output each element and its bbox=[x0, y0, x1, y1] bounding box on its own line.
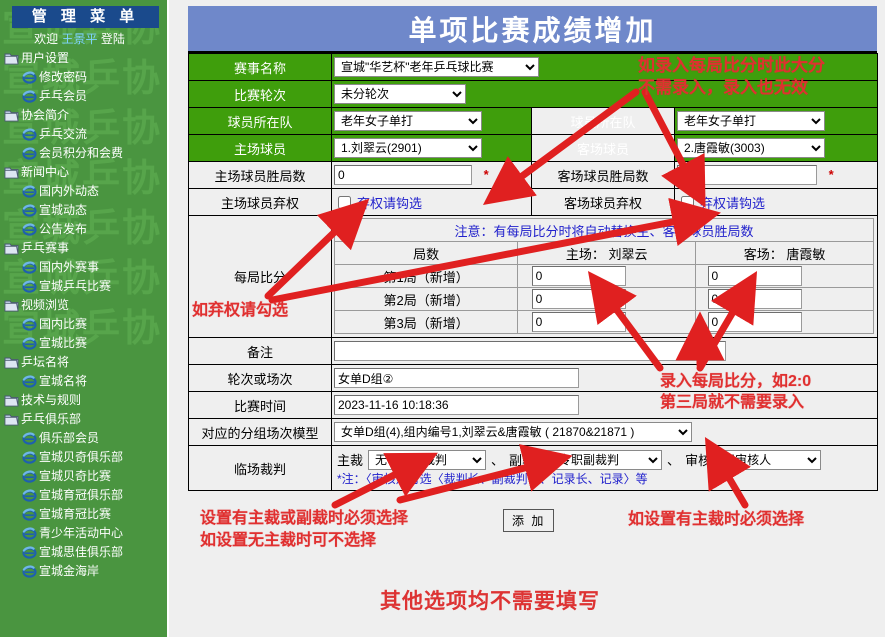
ie-icon bbox=[22, 489, 37, 503]
sidebar-item-10[interactable]: 乒乓赛事 bbox=[0, 239, 167, 258]
ie-icon bbox=[22, 318, 37, 332]
games-row: 第1局（新增） bbox=[335, 265, 874, 288]
row-remark: 备注 bbox=[189, 338, 878, 365]
cell-time bbox=[332, 392, 878, 419]
sidebar-item-label: 公告发布 bbox=[39, 220, 87, 239]
games-header-2: 客场： 唐霞敏 bbox=[696, 242, 874, 265]
folder-icon bbox=[4, 242, 19, 256]
folder-icon bbox=[4, 299, 19, 313]
referee-note: *注：〈审核〉可选〈裁判长、副裁判长、记录长、记录〉等 bbox=[334, 470, 875, 487]
sidebar: 宣城乒协 宣城乒协 宣城乒协 宣城乒协 宣城乒协 宣城乒协 宣城乒协 管 理 菜… bbox=[0, 0, 169, 637]
row-forfeit: 主场球员弃权 弃权请钩选 客场球员弃权 弃权请钩选 bbox=[189, 189, 878, 216]
row-session: 轮次或场次 bbox=[189, 365, 878, 392]
event-name-select[interactable]: 宣城"华艺杯"老年乒乓球比赛 bbox=[334, 57, 539, 77]
cell-referee: 主裁 无专职主裁判 、 副裁 无专职副裁判 、 审核 无审核人 bbox=[332, 446, 878, 491]
label-round: 比赛轮次 bbox=[189, 81, 332, 108]
sidebar-item-label: 宣城金海岸 bbox=[39, 562, 99, 581]
away-forfeit-text: 弃权请钩选 bbox=[700, 193, 765, 212]
sidebar-item-label: 协会简介 bbox=[21, 106, 69, 125]
sidebar-item-1[interactable]: 修改密码 bbox=[0, 68, 167, 87]
ie-icon bbox=[22, 185, 37, 199]
sidebar-item-label: 宣城贝奇俱乐部 bbox=[39, 448, 123, 467]
ie-icon bbox=[22, 508, 37, 522]
home-player-select[interactable]: 1.刘翠云(2901) bbox=[334, 138, 482, 158]
row-teams: 球员所在队 老年女子单打 球员所在队 老年女子单打 bbox=[189, 108, 878, 135]
label-time: 比赛时间 bbox=[189, 392, 332, 419]
sidebar-item-label: 会员积分和会费 bbox=[39, 144, 123, 163]
referee-main-label: 主裁 bbox=[337, 450, 363, 469]
label-away-player: 客场球员 bbox=[532, 135, 675, 162]
label-home-player: 主场球员 bbox=[189, 135, 332, 162]
sidebar-item-label: 国内比赛 bbox=[39, 315, 87, 334]
cell-home-player: 1.刘翠云(2901) bbox=[332, 135, 532, 162]
games-row: 第2局（新增） bbox=[335, 288, 874, 311]
sidebar-item-5[interactable]: 会员积分和会费 bbox=[0, 144, 167, 163]
folder-icon bbox=[4, 109, 19, 123]
game-home-cell-1 bbox=[518, 288, 696, 311]
label-away-forfeit: 客场球员弃权 bbox=[532, 189, 675, 216]
match-time-input[interactable] bbox=[334, 395, 579, 415]
cell-remark bbox=[332, 338, 878, 365]
sidebar-item-11[interactable]: 国内外赛事 bbox=[0, 258, 167, 277]
sidebar-item-14[interactable]: 国内比赛 bbox=[0, 315, 167, 334]
away-forfeit-checkbox[interactable] bbox=[681, 196, 694, 209]
ie-icon bbox=[22, 280, 37, 294]
ie-icon bbox=[22, 90, 37, 104]
label-event-name: 赛事名称 bbox=[189, 54, 332, 81]
sidebar-item-20[interactable]: 俱乐部会员 bbox=[0, 429, 167, 448]
home-forfeit-checkbox[interactable] bbox=[338, 196, 351, 209]
games-header-1: 主场： 刘翠云 bbox=[518, 242, 696, 265]
away-wins-required-star: * bbox=[829, 167, 834, 182]
referee-sep-1: 、 bbox=[491, 450, 504, 469]
folder-icon bbox=[4, 394, 19, 408]
sidebar-menu-list: 用户设置修改密码乒乓会员协会简介乒乓交流会员积分和会费新闻中心国内外动态宣城动态… bbox=[0, 49, 167, 581]
sidebar-item-25[interactable]: 青少年活动中心 bbox=[0, 524, 167, 543]
game-home-input-1[interactable] bbox=[532, 289, 626, 309]
referee-controls: 主裁 无专职主裁判 、 副裁 无专职副裁判 、 审核 无审核人 bbox=[334, 450, 875, 470]
sidebar-item-3[interactable]: 协会简介 bbox=[0, 106, 167, 125]
game-name-0: 第1局（新增） bbox=[335, 265, 518, 288]
score-form-table: 赛事名称 宣城"华艺杯"老年乒乓球比赛 比赛轮次 未分轮次 球员所在队 bbox=[188, 53, 878, 491]
row-players: 主场球员 1.刘翠云(2901) 客场球员 2.唐霞敏(3003) bbox=[189, 135, 878, 162]
label-referee: 临场裁判 bbox=[189, 446, 332, 491]
away-forfeit-checkbox-wrap[interactable]: 弃权请钩选 bbox=[677, 193, 875, 212]
sidebar-item-2[interactable]: 乒乓会员 bbox=[0, 87, 167, 106]
ie-icon bbox=[22, 261, 37, 275]
cell-away-team: 老年女子单打 bbox=[675, 108, 878, 135]
cell-event-name: 宣城"华艺杯"老年乒乓球比赛 bbox=[332, 54, 878, 81]
folder-icon bbox=[4, 166, 19, 180]
label-away-team: 球员所在队 bbox=[532, 108, 675, 135]
label-home-forfeit: 主场球员弃权 bbox=[189, 189, 332, 216]
ie-icon bbox=[22, 546, 37, 560]
page-title: 单项比赛成绩增加 bbox=[188, 6, 877, 53]
remark-input[interactable] bbox=[334, 341, 726, 361]
ie-icon bbox=[22, 470, 37, 484]
ie-icon bbox=[22, 204, 37, 218]
game-home-input-2[interactable] bbox=[532, 312, 626, 332]
ie-icon bbox=[22, 223, 37, 237]
sidebar-item-15[interactable]: 宣城比赛 bbox=[0, 334, 167, 353]
row-round: 比赛轮次 未分轮次 bbox=[189, 81, 878, 108]
sidebar-item-6[interactable]: 新闻中心 bbox=[0, 163, 167, 182]
ie-icon bbox=[22, 337, 37, 351]
row-referee: 临场裁判 主裁 无专职主裁判 、 副裁 无专职副裁判 、 审核 bbox=[189, 446, 878, 491]
sidebar-item-label: 青少年活动中心 bbox=[39, 524, 123, 543]
game-name-2: 第3局（新增） bbox=[335, 311, 518, 334]
cell-per-game: 注意：有每局比分时将自动替换主、客场球员胜局数 局数主场： 刘翠云客场： 唐霞敏… bbox=[332, 216, 878, 338]
folder-icon bbox=[4, 356, 19, 370]
ie-icon bbox=[22, 565, 37, 579]
submit-area: 添 加 bbox=[188, 491, 877, 553]
sidebar-item-22[interactable]: 宣城贝奇比赛 bbox=[0, 467, 167, 486]
sidebar-item-label: 新闻中心 bbox=[21, 163, 69, 182]
label-group-model: 对应的分组场次模型 bbox=[189, 419, 332, 446]
game-away-input-0[interactable] bbox=[708, 266, 802, 286]
cell-session bbox=[332, 365, 878, 392]
games-notice: 注意：有每局比分时将自动替换主、客场球员胜局数 bbox=[335, 219, 874, 242]
annotation-bottom-note: 其他选项均不需要填写 bbox=[380, 585, 600, 615]
game-away-input-1[interactable] bbox=[708, 289, 802, 309]
sidebar-item-label: 俱乐部会员 bbox=[39, 429, 99, 448]
row-time: 比赛时间 bbox=[189, 392, 878, 419]
label-session: 轮次或场次 bbox=[189, 365, 332, 392]
cell-away-forfeit: 弃权请钩选 bbox=[675, 189, 878, 216]
sidebar-item-label: 修改密码 bbox=[39, 68, 87, 87]
label-per-game: 每局比分 bbox=[189, 216, 332, 338]
sidebar-item-17[interactable]: 宣城名将 bbox=[0, 372, 167, 391]
sidebar-item-13[interactable]: 视频浏览 bbox=[0, 296, 167, 315]
row-group-model: 对应的分组场次模型 女单D组(4),组内编号1,刘翠云&唐霞敏 ( 21870&… bbox=[189, 419, 878, 446]
cell-home-forfeit: 弃权请钩选 bbox=[332, 189, 532, 216]
games-header-0: 局数 bbox=[335, 242, 518, 265]
sidebar-item-19[interactable]: 乒乓俱乐部 bbox=[0, 410, 167, 429]
games-row: 第3局（新增） bbox=[335, 311, 874, 334]
sidebar-item-4[interactable]: 乒乓交流 bbox=[0, 125, 167, 144]
ie-icon bbox=[22, 432, 37, 446]
sidebar-item-label: 宣城动态 bbox=[39, 201, 87, 220]
home-forfeit-checkbox-wrap[interactable]: 弃权请钩选 bbox=[334, 193, 529, 212]
sidebar-item-label: 用户设置 bbox=[21, 49, 69, 68]
game-away-cell-2 bbox=[696, 311, 874, 334]
game-away-cell-0 bbox=[696, 265, 874, 288]
add-button[interactable]: 添 加 bbox=[503, 509, 554, 532]
cell-round: 未分轮次 bbox=[332, 81, 878, 108]
menu-title: 管 理 菜 单 bbox=[12, 6, 159, 28]
game-home-cell-2 bbox=[518, 311, 696, 334]
cell-away-player: 2.唐霞敏(3003) bbox=[675, 135, 878, 162]
sidebar-item-26[interactable]: 宣城思佳俱乐部 bbox=[0, 543, 167, 562]
home-team-select[interactable]: 老年女子单打 bbox=[334, 111, 482, 131]
sidebar-item-0[interactable]: 用户设置 bbox=[0, 49, 167, 68]
home-wins-input[interactable] bbox=[334, 165, 472, 185]
referee-sep-2: 、 bbox=[667, 450, 680, 469]
sidebar-item-label: 宣城思佳俱乐部 bbox=[39, 543, 123, 562]
referee-sub-label: 副裁 bbox=[509, 450, 535, 469]
row-event-name: 赛事名称 宣城"华艺杯"老年乒乓球比赛 bbox=[189, 54, 878, 81]
sidebar-item-label: 宣城贝奇比赛 bbox=[39, 467, 111, 486]
home-forfeit-text: 弃权请钩选 bbox=[357, 193, 422, 212]
sidebar-item-label: 乒坛名将 bbox=[21, 353, 69, 372]
games-notice-row: 注意：有每局比分时将自动替换主、客场球员胜局数 bbox=[335, 219, 874, 242]
game-away-input-2[interactable] bbox=[708, 312, 802, 332]
game-home-input-0[interactable] bbox=[532, 266, 626, 286]
round-select[interactable]: 未分轮次 bbox=[334, 84, 466, 104]
away-wins-input[interactable] bbox=[677, 165, 817, 185]
sidebar-item-label: 国内外动态 bbox=[39, 182, 99, 201]
ie-icon bbox=[22, 527, 37, 541]
referee-main-select[interactable]: 无专职主裁判 bbox=[368, 450, 486, 470]
sidebar-item-label: 乒乓交流 bbox=[39, 125, 87, 144]
ie-icon bbox=[22, 451, 37, 465]
sidebar-item-label: 乒乓赛事 bbox=[21, 239, 69, 258]
sidebar-item-label: 宣城育冠比赛 bbox=[39, 505, 111, 524]
games-table: 注意：有每局比分时将自动替换主、客场球员胜局数 局数主场： 刘翠云客场： 唐霞敏… bbox=[334, 218, 874, 334]
cell-home-team: 老年女子单打 bbox=[332, 108, 532, 135]
home-wins-required-star: * bbox=[484, 167, 489, 182]
sidebar-item-23[interactable]: 宣城育冠俱乐部 bbox=[0, 486, 167, 505]
label-remark: 备注 bbox=[189, 338, 332, 365]
referee-audit-label: 审核 bbox=[685, 450, 711, 469]
sidebar-item-12[interactable]: 宣城乒乓比赛 bbox=[0, 277, 167, 296]
away-team-select[interactable]: 老年女子单打 bbox=[677, 111, 825, 131]
referee-sub-select[interactable]: 无专职副裁判 bbox=[540, 450, 662, 470]
sidebar-item-24[interactable]: 宣城育冠比赛 bbox=[0, 505, 167, 524]
sidebar-item-label: 乒乓俱乐部 bbox=[21, 410, 81, 429]
sidebar-item-label: 宣城乒乓比赛 bbox=[39, 277, 111, 296]
group-model-select[interactable]: 女单D组(4),组内编号1,刘翠云&唐霞敏 ( 21870&21871 ) bbox=[334, 422, 692, 442]
welcome-line: 欢迎 王景平 登陆 bbox=[0, 29, 167, 49]
sidebar-item-8[interactable]: 宣城动态 bbox=[0, 201, 167, 220]
ie-icon bbox=[22, 128, 37, 142]
sidebar-item-label: 视频浏览 bbox=[21, 296, 69, 315]
game-name-1: 第2局（新增） bbox=[335, 288, 518, 311]
folder-icon bbox=[4, 52, 19, 66]
welcome-username: 王景平 bbox=[61, 32, 97, 46]
sidebar-item-27[interactable]: 宣城金海岸 bbox=[0, 562, 167, 581]
session-input[interactable] bbox=[334, 368, 579, 388]
sidebar-item-7[interactable]: 国内外动态 bbox=[0, 182, 167, 201]
cell-away-wins: * bbox=[675, 162, 878, 189]
games-header-row: 局数主场： 刘翠云客场： 唐霞敏 bbox=[335, 242, 874, 265]
row-wins: 主场球员胜局数 * 客场球员胜局数 * bbox=[189, 162, 878, 189]
welcome-prefix: 欢迎 bbox=[34, 32, 58, 46]
label-away-wins: 客场球员胜局数 bbox=[532, 162, 675, 189]
sidebar-item-21[interactable]: 宣城贝奇俱乐部 bbox=[0, 448, 167, 467]
welcome-suffix: 登陆 bbox=[101, 32, 125, 46]
row-per-game-scores: 每局比分 注意：有每局比分时将自动替换主、客场球员胜局数 局数主场： 刘翠云客场… bbox=[189, 216, 878, 338]
sidebar-item-16[interactable]: 乒坛名将 bbox=[0, 353, 167, 372]
cell-group-model: 女单D组(4),组内编号1,刘翠云&唐霞敏 ( 21870&21871 ) bbox=[332, 419, 878, 446]
referee-audit-select[interactable]: 无审核人 bbox=[716, 450, 821, 470]
ie-icon bbox=[22, 71, 37, 85]
game-home-cell-0 bbox=[518, 265, 696, 288]
sidebar-item-label: 技术与规则 bbox=[21, 391, 81, 410]
sidebar-item-label: 宣城比赛 bbox=[39, 334, 87, 353]
sidebar-item-label: 国内外赛事 bbox=[39, 258, 99, 277]
label-home-wins: 主场球员胜局数 bbox=[189, 162, 332, 189]
ie-icon bbox=[22, 375, 37, 389]
sidebar-item-label: 乒乓会员 bbox=[39, 87, 87, 106]
cell-home-wins: * bbox=[332, 162, 532, 189]
away-player-select[interactable]: 2.唐霞敏(3003) bbox=[677, 138, 825, 158]
sidebar-item-label: 宣城名将 bbox=[39, 372, 87, 391]
game-away-cell-1 bbox=[696, 288, 874, 311]
folder-icon bbox=[4, 413, 19, 427]
label-home-team: 球员所在队 bbox=[189, 108, 332, 135]
ie-icon bbox=[22, 147, 37, 161]
main-content: 单项比赛成绩增加 赛事名称 宣城"华艺杯"老年乒乓球比赛 比赛轮次 bbox=[169, 0, 885, 637]
sidebar-item-18[interactable]: 技术与规则 bbox=[0, 391, 167, 410]
sidebar-item-label: 宣城育冠俱乐部 bbox=[39, 486, 123, 505]
sidebar-item-9[interactable]: 公告发布 bbox=[0, 220, 167, 239]
